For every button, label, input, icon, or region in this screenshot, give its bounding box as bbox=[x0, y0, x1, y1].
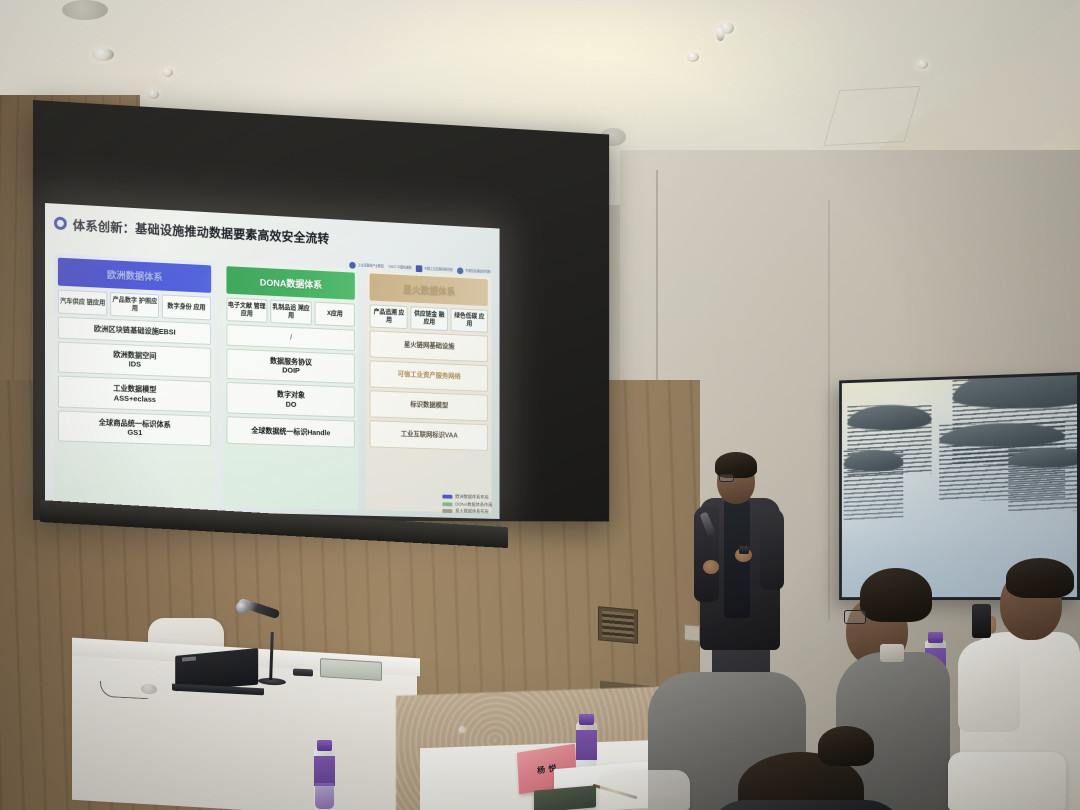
chip-xh-2: 绿色低碳 应用 bbox=[451, 308, 488, 333]
chip-xh-0: 产品追溯 应用 bbox=[370, 304, 408, 329]
bar-xh-2: 标识数据模型 bbox=[370, 390, 488, 421]
bar-eu-2: 工业数据模型 ASS+eclass bbox=[58, 376, 211, 413]
bar-eu-3: 全球商品统一标识体系 GS1 bbox=[58, 410, 211, 446]
legend-swatch-icon bbox=[443, 502, 453, 506]
legend-item-xinghuo: 星火数据体系布局 bbox=[443, 508, 493, 515]
chip-eu-0: 汽车供应 链应用 bbox=[58, 290, 108, 316]
handheld-clicker bbox=[739, 546, 749, 554]
white-shirt-hair bbox=[1006, 558, 1074, 598]
column-header-dona: DONA数据体系 bbox=[226, 266, 355, 300]
column-eu: 欧洲数据体系 汽车供应 链应用 产品数字 护照应用 数字身份 应用 欧洲区块链基… bbox=[54, 253, 215, 506]
logo-mark-icon bbox=[457, 267, 463, 274]
slide-legend: 欧洲数据体系布局 DONA数据体系作用 星火数据体系布局 bbox=[443, 494, 493, 515]
ceiling-speaker-icon bbox=[62, 0, 108, 20]
ring-bullet-icon bbox=[54, 216, 67, 230]
chip-dona-0: 电子文献 管理应用 bbox=[226, 298, 268, 323]
bar-dona-0: / bbox=[226, 324, 355, 351]
presenter-right-arm bbox=[760, 508, 784, 590]
chip-row-dona: 电子文献 管理应用 乳制品追 溯应用 X应用 bbox=[226, 298, 355, 327]
bar-xh-3: 工业互联网标识VAA bbox=[370, 420, 488, 451]
bar-dona-3: 全球数据统一标识Handle bbox=[226, 416, 355, 448]
chip-eu-1: 产品数字 护照应用 bbox=[110, 292, 159, 318]
computer-mouse bbox=[141, 684, 157, 695]
projection-screen: 体系创新：基础设施推动数据要素高效安全流转 工业互联网产业联盟 CAICT 中国… bbox=[45, 203, 500, 519]
bottle-water bbox=[315, 783, 334, 809]
bar-xh-1: 可信工业资产服务网络 bbox=[370, 360, 488, 392]
bottle-cap bbox=[579, 714, 594, 725]
downlight-icon bbox=[148, 90, 159, 99]
chip-xh-1: 供应链金 融应用 bbox=[411, 306, 448, 331]
chip-dona-2: X应用 bbox=[314, 302, 355, 327]
grey-suit-hair bbox=[860, 568, 932, 622]
audience-chair-mid bbox=[600, 770, 690, 810]
foreground-shoulders bbox=[706, 800, 906, 810]
bottle-cap bbox=[928, 632, 943, 643]
legend-item-eu: 欧洲数据体系布局 bbox=[443, 494, 493, 501]
chip-dona-1: 乳制品追 溯应用 bbox=[270, 300, 311, 325]
shirt-collar bbox=[880, 644, 904, 662]
presenter-glasses bbox=[719, 474, 734, 482]
white-shirt-arm bbox=[958, 640, 1020, 732]
legend-swatch-icon bbox=[443, 509, 453, 513]
column-header-eu: 欧洲数据体系 bbox=[58, 258, 211, 293]
microphone-capsule bbox=[236, 601, 249, 614]
downlight-icon bbox=[917, 60, 928, 69]
column-header-xinghuo: 星火数据体系 bbox=[370, 273, 488, 306]
bottle-label bbox=[576, 730, 597, 760]
presenter-hand-mic bbox=[703, 560, 719, 574]
serving-tray bbox=[320, 658, 382, 681]
chip-eu-2: 数字身份 应用 bbox=[162, 295, 210, 321]
far-left-hair bbox=[818, 726, 874, 766]
chip-row-eu: 汽车供应 链应用 产品数字 护照应用 数字身份 应用 bbox=[58, 290, 211, 321]
chip-row-xinghuo: 产品追溯 应用 供应链金 融应用 绿色低碳 应用 bbox=[370, 304, 488, 333]
logo-mark-icon bbox=[349, 262, 356, 269]
bar-dona-2: 数字对象 DO bbox=[226, 382, 355, 417]
logo-caict: CAICT 中国信通院 bbox=[388, 265, 411, 270]
bar-dona-1: 数据服务协议 DOIP bbox=[226, 348, 355, 384]
bar-eu-1: 欧洲数据空间 IDS bbox=[58, 341, 211, 378]
conference-room-photo: 体系创新：基础设施推动数据要素高效安全流转 工业互联网产业联盟 CAICT 中国… bbox=[0, 0, 1080, 810]
logo-mark-icon bbox=[416, 265, 422, 272]
audience-chair-right bbox=[948, 752, 1066, 810]
bottle-cap bbox=[317, 740, 332, 751]
grey-suit-glasses bbox=[844, 610, 866, 624]
slide-columns: 欧洲数据体系 汽车供应 链应用 产品数字 护照应用 数字身份 应用 欧洲区块链基… bbox=[54, 253, 491, 513]
presentation-clicker bbox=[293, 668, 313, 676]
bottle-label bbox=[314, 756, 335, 786]
legend-swatch-icon bbox=[443, 495, 453, 499]
column-dona: DONA数据体系 电子文献 管理应用 乳制品追 溯应用 X应用 / 数据服务协议… bbox=[222, 262, 359, 510]
presentation-slide: 体系创新：基础设施推动数据要素高效安全流转 工业互联网产业联盟 CAICT 中国… bbox=[45, 203, 500, 519]
wall-vent-icon bbox=[598, 606, 638, 643]
wall-seam bbox=[828, 200, 830, 620]
wall-outlet-icon bbox=[684, 624, 700, 641]
bar-eu-0: 欧洲区块链基础设施EBSI bbox=[58, 317, 211, 345]
legend-item-dona: DONA数据体系作用 bbox=[443, 501, 493, 508]
slide-title: 体系创新：基础设施推动数据要素高效安全流转 bbox=[73, 215, 330, 248]
water-bottle bbox=[314, 748, 335, 810]
column-xinghuo: 星火数据体系 产品追溯 应用 供应链金 融应用 绿色低碳 应用 星火链网基础设施… bbox=[366, 269, 491, 513]
downlight-icon bbox=[162, 68, 173, 77]
bar-xh-0: 星火链网基础设施 bbox=[370, 331, 488, 363]
downlight-icon bbox=[92, 48, 114, 61]
smartphone bbox=[972, 604, 991, 638]
downlight-icon bbox=[716, 25, 725, 41]
notebook bbox=[534, 785, 596, 810]
downlight-icon bbox=[687, 52, 699, 62]
